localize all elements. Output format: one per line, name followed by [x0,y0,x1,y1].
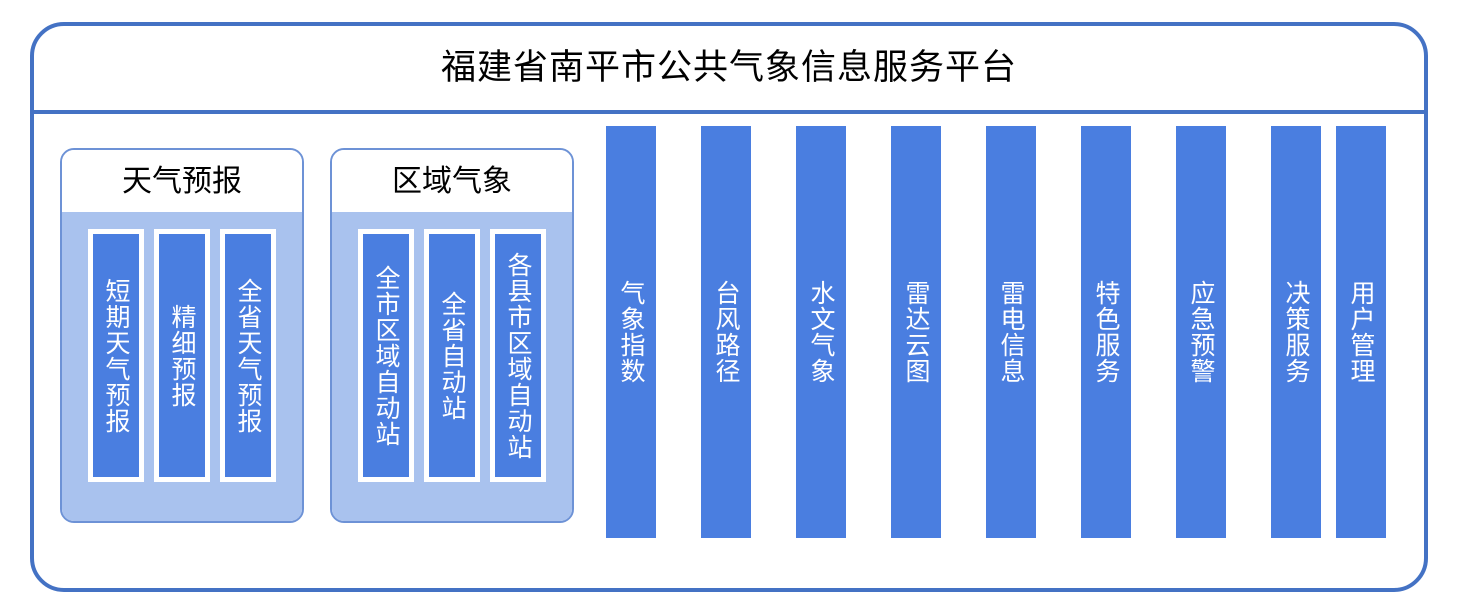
module-bar-label: 决策服务 [1282,280,1310,384]
module-bar-label: 特色服务 [1092,280,1120,384]
platform-title-bar: 福建省南平市公共气象信息服务平台 [34,26,1424,114]
module-bar-label: 气象指数 [617,280,645,384]
module-group-weather-forecast[interactable]: 天气预报 短期天气预报 精细预报 全省天气预报 [60,148,304,523]
module-bar-hydrological-meteorology[interactable]: 水文气象 [796,126,846,538]
module-bar-decision-service[interactable]: 决策服务 [1271,126,1321,538]
module-group-body: 短期天气预报 精细预报 全省天气预报 [62,212,302,521]
module-group-header: 天气预报 [62,150,302,212]
module-item-province-forecast[interactable]: 全省天气预报 [220,229,276,482]
module-group-regional-meteorology[interactable]: 区域气象 全市区域自动站 全省自动站 各县市区域自动站 [330,148,574,523]
module-item-province-auto-station[interactable]: 全省自动站 [424,229,480,482]
module-bar-typhoon-path[interactable]: 台风路径 [701,126,751,538]
module-bar-lightning-info[interactable]: 雷电信息 [986,126,1036,538]
module-item-short-term-forecast[interactable]: 短期天气预报 [88,229,144,482]
module-group-title: 区域气象 [392,165,512,198]
module-group-header: 区域气象 [332,150,572,212]
module-bar-label: 水文气象 [807,280,835,384]
module-item-county-regional-station[interactable]: 各县市区域自动站 [490,229,546,482]
module-bar-meteorological-index[interactable]: 气象指数 [606,126,656,538]
module-bar-radar-cloud-map[interactable]: 雷达云图 [891,126,941,538]
module-item-label: 短期天气预报 [102,278,130,434]
modules-row: 天气预报 短期天气预报 精细预报 全省天气预报 区域气象 全市 [34,114,1424,588]
module-bar-label: 雷电信息 [997,280,1025,384]
module-bar-label: 应急预警 [1187,280,1215,384]
module-bar-label: 雷达云图 [902,280,930,384]
module-item-city-regional-station[interactable]: 全市区域自动站 [358,229,414,482]
module-group-body: 全市区域自动站 全省自动站 各县市区域自动站 [332,212,572,521]
module-bar-label: 用户管理 [1347,280,1375,384]
module-item-label: 全省自动站 [438,291,466,421]
module-bar-label: 台风路径 [712,280,740,384]
platform-frame: 福建省南平市公共气象信息服务平台 天气预报 短期天气预报 精细预报 全省天气预报 [30,22,1428,592]
page-title: 福建省南平市公共气象信息服务平台 [441,49,1017,88]
module-item-label: 精细预报 [168,304,196,408]
module-bar-user-management[interactable]: 用户管理 [1336,126,1386,538]
module-item-fine-forecast[interactable]: 精细预报 [154,229,210,482]
module-item-label: 各县市区域自动站 [504,252,532,460]
module-bar-featured-service[interactable]: 特色服务 [1081,126,1131,538]
module-bar-emergency-warning[interactable]: 应急预警 [1176,126,1226,538]
module-group-title: 天气预报 [122,165,242,198]
module-item-label: 全省天气预报 [234,278,262,434]
module-item-label: 全市区域自动站 [372,265,400,447]
